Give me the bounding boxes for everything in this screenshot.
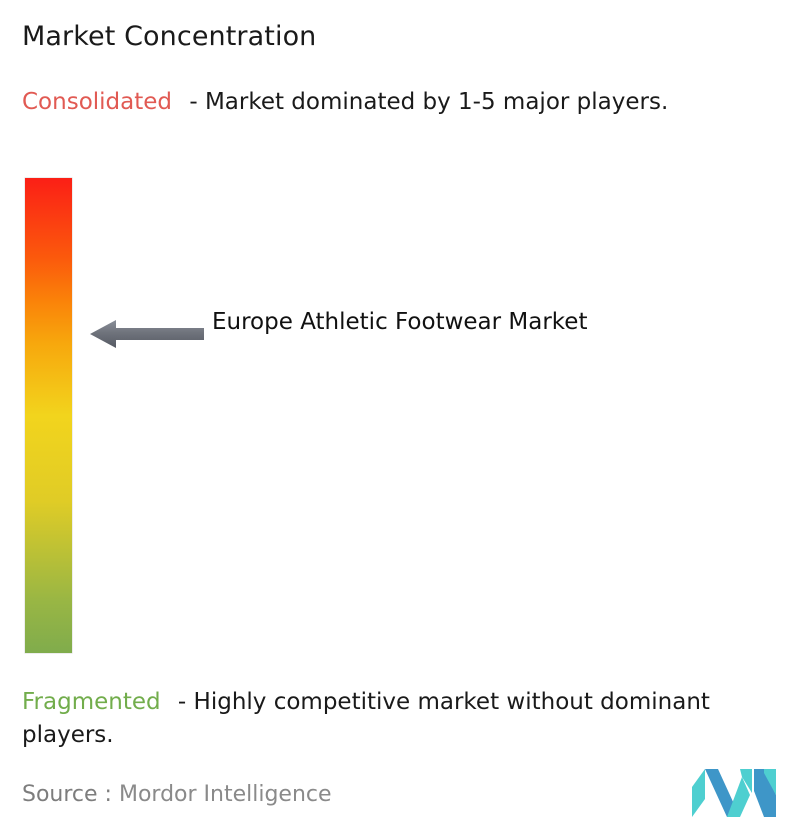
market-concentration-chart: Market Concentration Consolidated - Mark… (0, 0, 796, 834)
source-value: Mordor Intelligence (119, 782, 332, 807)
source-label: Source : (22, 782, 112, 807)
legend-consolidated-description: Market dominated by 1-5 major players. (205, 89, 668, 115)
source-note: Source : Mordor Intelligence (22, 780, 332, 810)
concentration-gradient-bar (25, 178, 72, 653)
legend-consolidated-separator: - (182, 89, 205, 115)
callout-label: Europe Athletic Footwear Market (212, 305, 632, 339)
mordor-intelligence-logo-icon (692, 769, 776, 817)
legend-fragmented-separator: - (171, 689, 194, 715)
legend-fragmented: Fragmented - Highly competitive market w… (22, 686, 782, 752)
callout-left-arrow-icon (90, 317, 204, 351)
legend-consolidated: Consolidated - Market dominated by 1-5 m… (22, 86, 770, 119)
legend-consolidated-term: Consolidated (22, 89, 172, 115)
legend-fragmented-term: Fragmented (22, 689, 161, 715)
page-title: Market Concentration (22, 20, 316, 54)
